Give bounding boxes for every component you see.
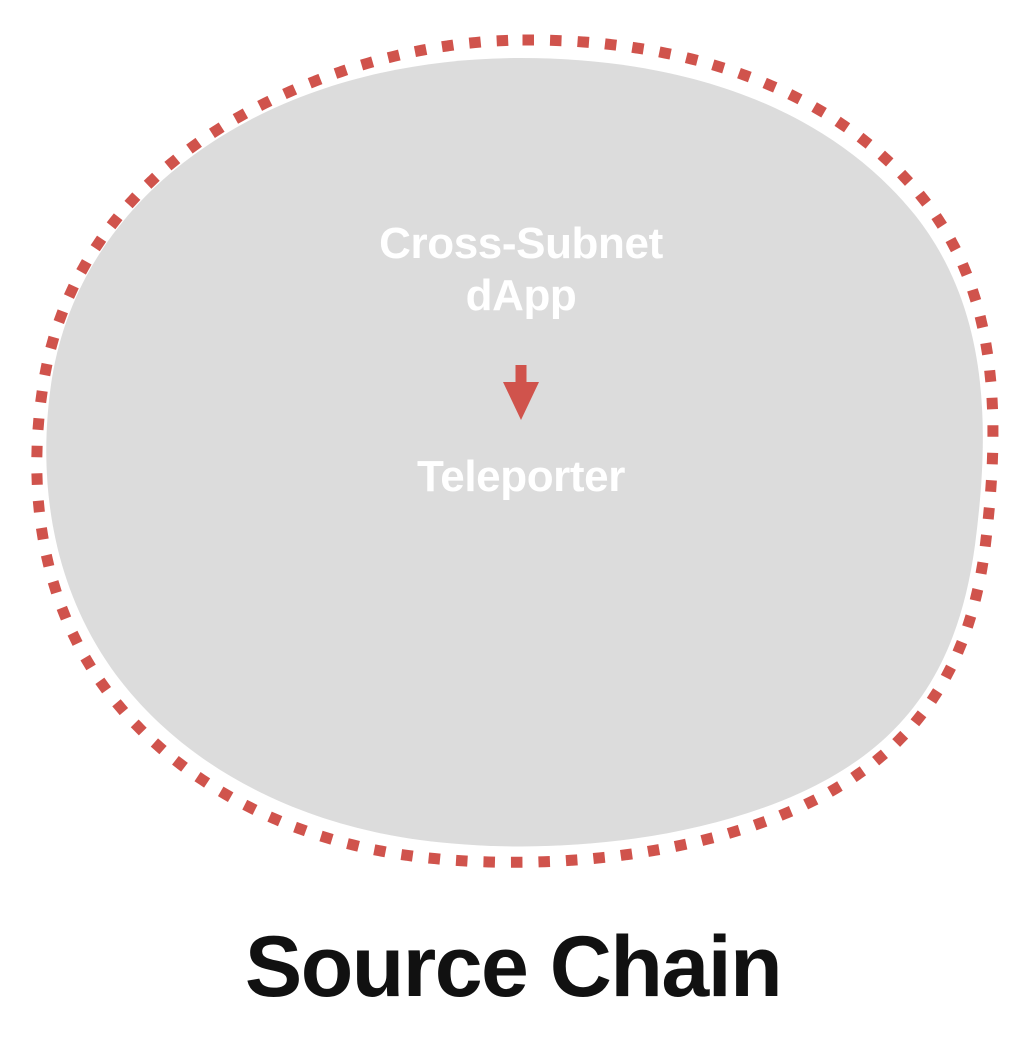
node-cross-subnet-dapp[interactable]: Cross-Subnet dApp <box>326 175 716 365</box>
page-title: Source Chain <box>0 918 1026 1017</box>
diagram-canvas: Cross-Subnet dApp Teleporter Source Chai… <box>0 0 1026 1054</box>
node-teleporter[interactable]: Teleporter <box>326 418 716 536</box>
node-teleporter-label: Teleporter <box>326 451 716 503</box>
node-cross-subnet-dapp-label: Cross-Subnet dApp <box>340 218 702 322</box>
